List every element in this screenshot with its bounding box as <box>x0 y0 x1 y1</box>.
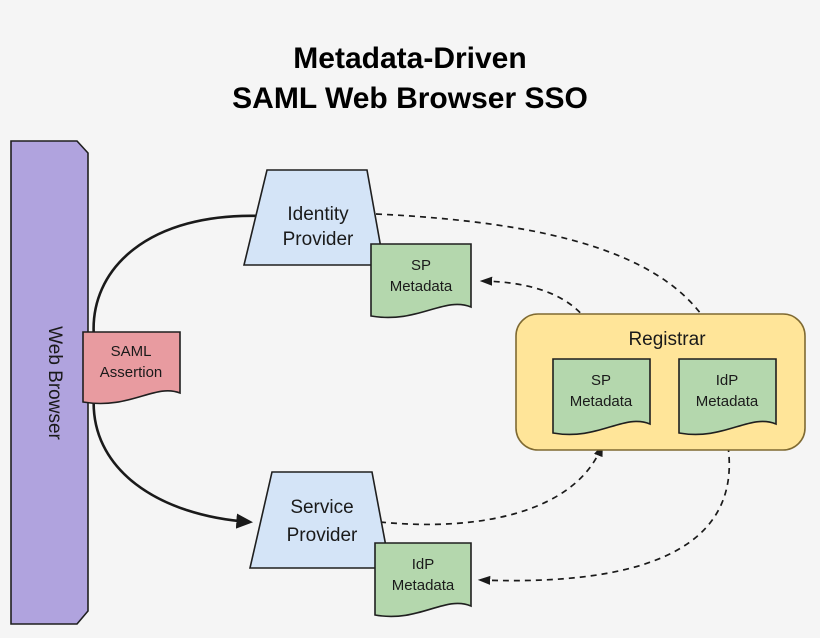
edge-browser-to-identity-provider <box>94 216 262 338</box>
service-provider-label-line-1: Service <box>290 497 353 518</box>
node-sp-idp-metadata[interactable]: IdP Metadata <box>375 543 471 616</box>
node-service-provider[interactable]: Service Provider <box>250 472 390 568</box>
registrar-idp-metadata-label-line-2: Metadata <box>696 393 759 410</box>
node-saml-assertion[interactable]: SAML Assertion <box>83 332 180 404</box>
registrar-label: Registrar <box>628 329 706 350</box>
registrar-idp-metadata-label-line-1: IdP <box>716 372 739 389</box>
service-provider-shape <box>250 472 390 568</box>
registrar-sp-metadata-label-line-2: Metadata <box>570 393 633 410</box>
idp-sp-metadata-label-line-2: Metadata <box>390 278 453 295</box>
identity-provider-label-line-1: Identity <box>287 204 349 225</box>
diagram-canvas: Metadata-Driven SAML Web Browser SSO Web… <box>0 0 820 638</box>
saml-assertion-label-line-2: Assertion <box>100 364 163 381</box>
diagram-title-line-2: SAML Web Browser SSO <box>232 82 588 115</box>
sp-idp-metadata-label-line-1: IdP <box>412 556 435 573</box>
node-web-browser[interactable]: Web Browser <box>11 141 88 624</box>
registrar-sp-metadata-label-line-1: SP <box>591 372 611 389</box>
node-identity-provider[interactable]: Identity Provider <box>244 170 384 265</box>
identity-provider-label-line-2: Provider <box>283 229 354 250</box>
saml-assertion-label-line-1: SAML <box>111 343 152 360</box>
edge-service-provider-to-registrar-sp-metadata <box>380 446 602 524</box>
service-provider-label-line-2: Provider <box>287 525 358 546</box>
sp-idp-metadata-label-line-2: Metadata <box>392 577 455 594</box>
diagram-title-line-1: Metadata-Driven <box>293 42 526 75</box>
idp-sp-metadata-label-line-1: SP <box>411 257 431 274</box>
edge-registrar-idp-metadata-to-sp-idp-metadata <box>480 446 729 581</box>
node-idp-sp-metadata[interactable]: SP Metadata <box>371 244 471 317</box>
saml-sso-diagram: Metadata-Driven SAML Web Browser SSO Web… <box>0 0 820 638</box>
web-browser-label: Web Browser <box>44 326 65 440</box>
edge-browser-to-service-provider <box>94 394 250 522</box>
